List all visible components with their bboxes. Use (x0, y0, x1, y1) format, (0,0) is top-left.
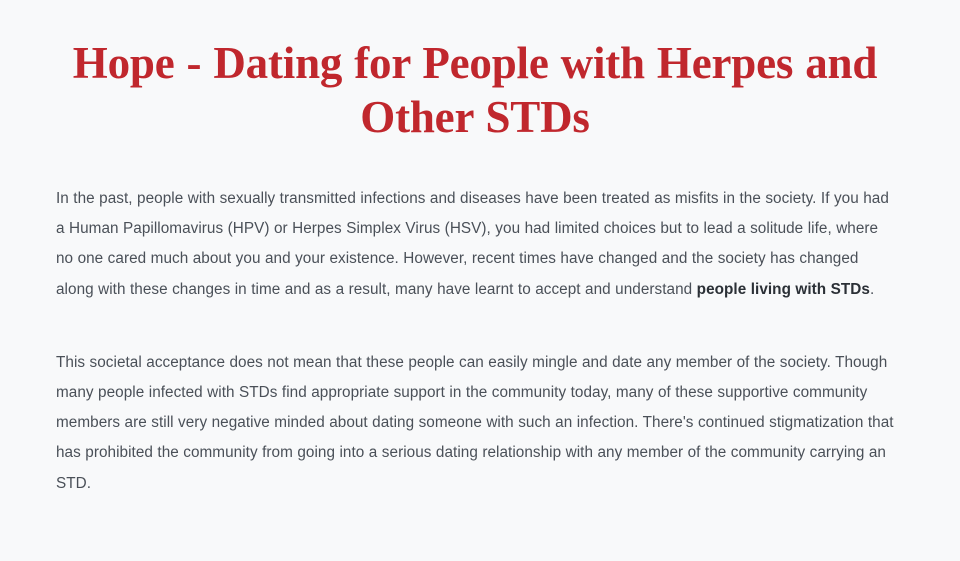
paragraph-2: This societal acceptance does not mean t… (56, 348, 894, 499)
paragraph-1: In the past, people with sexually transm… (56, 184, 894, 305)
page-title: Hope - Dating for People with Herpes and… (56, 0, 894, 144)
paragraph-1-emphasis-1: people living with STDs (697, 281, 870, 298)
article-body: In the past, people with sexually transm… (56, 184, 894, 499)
article-container: Hope - Dating for People with Herpes and… (56, 0, 894, 499)
article-page: Hope - Dating for People with Herpes and… (0, 0, 960, 561)
